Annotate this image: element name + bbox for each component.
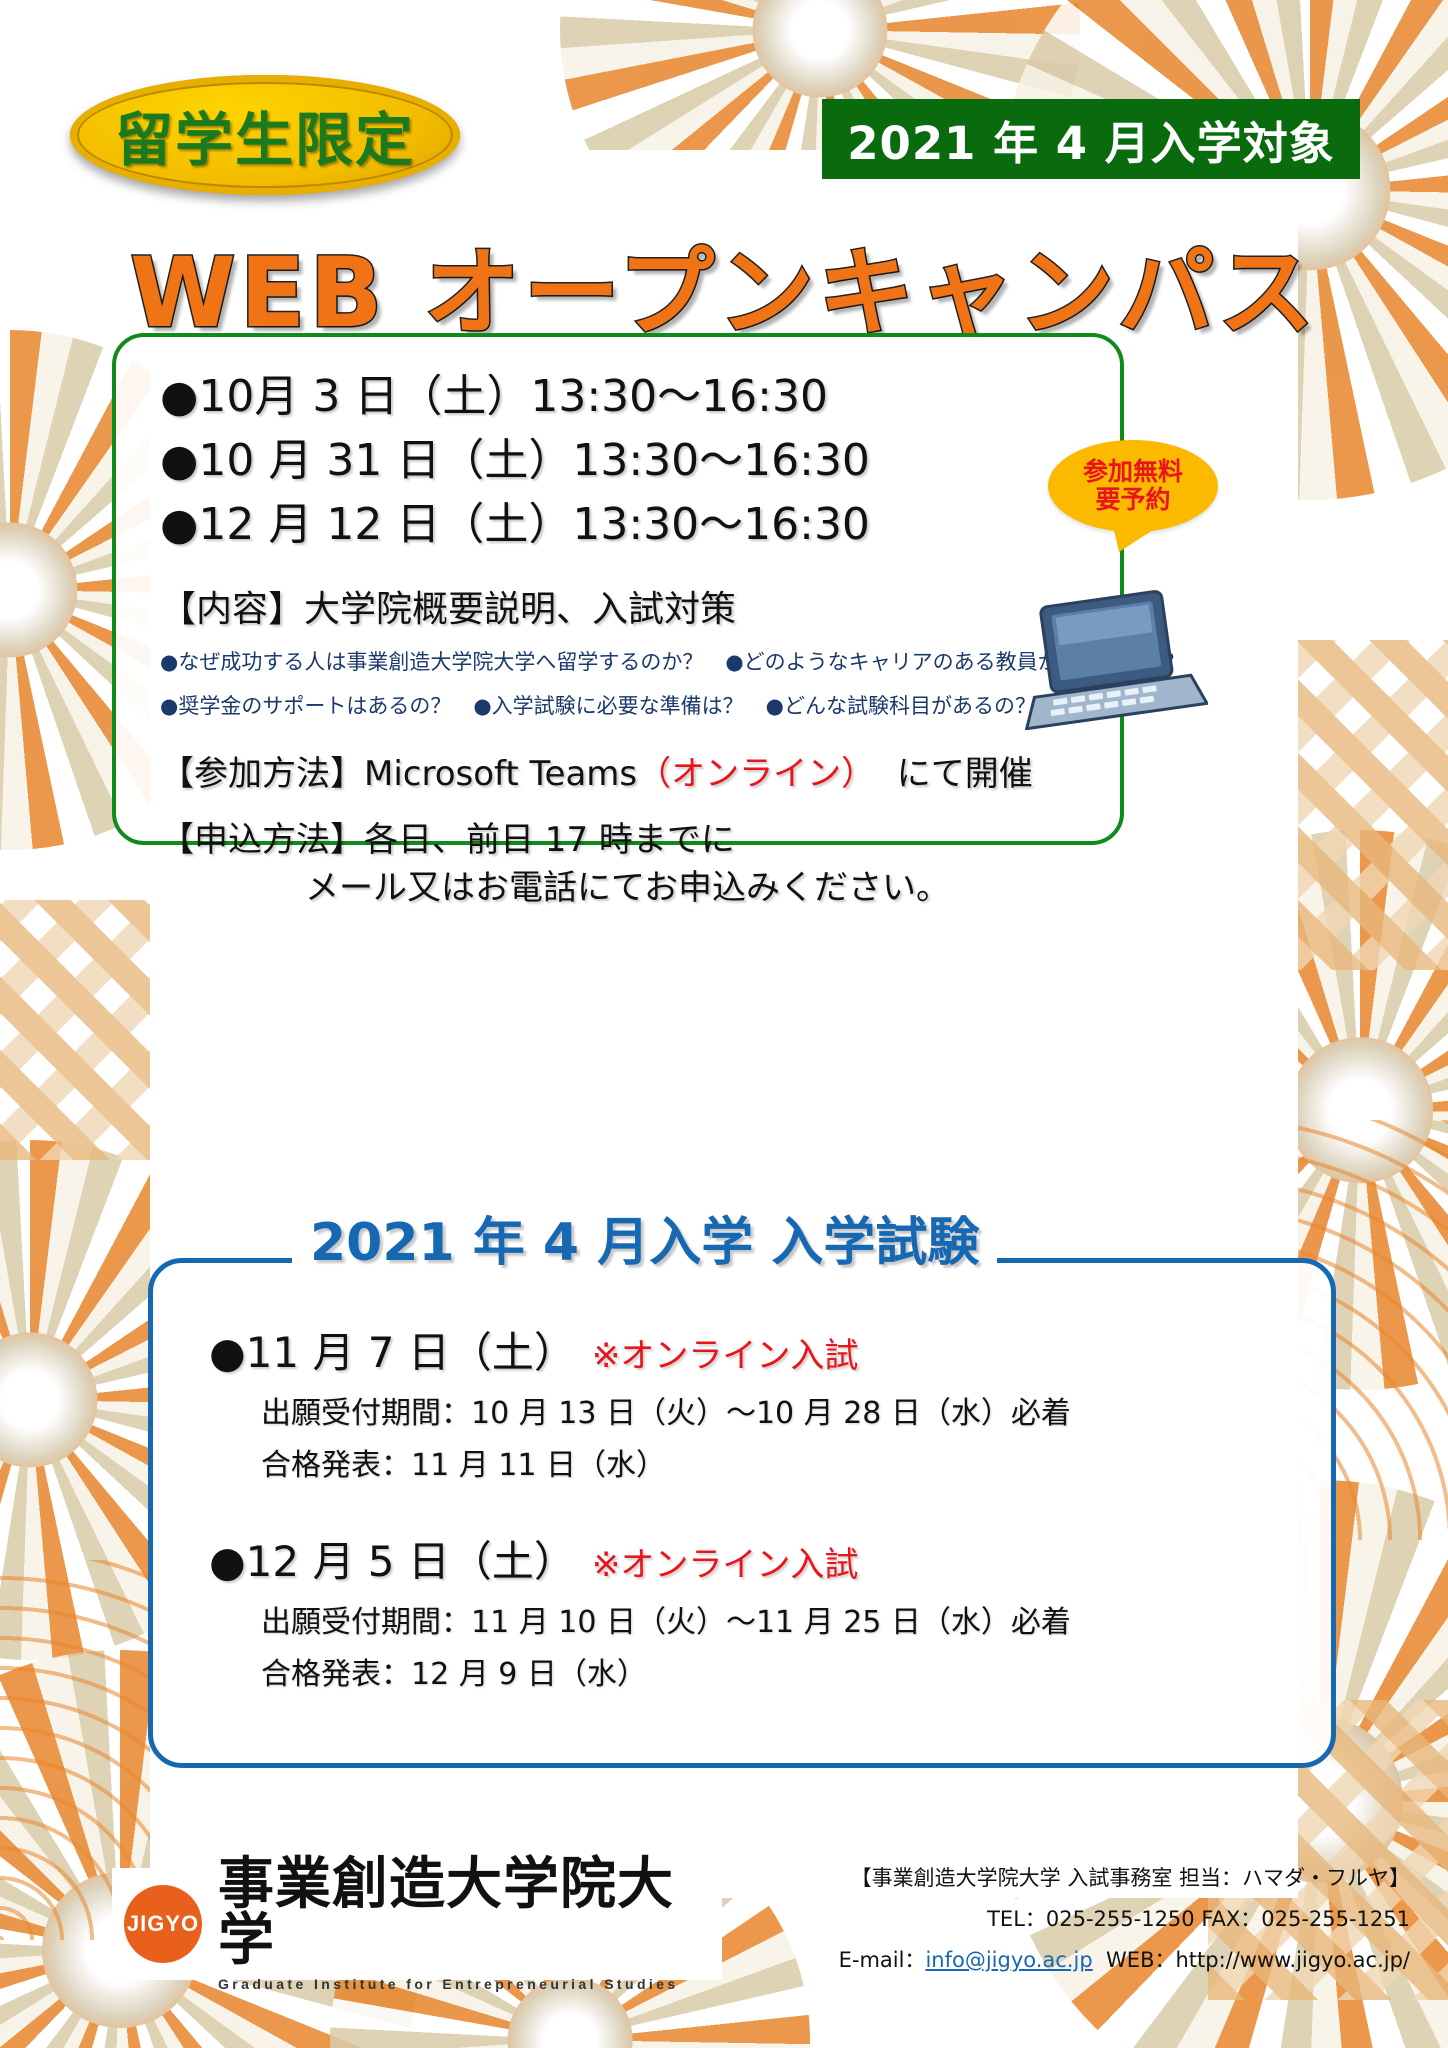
exam-1-date: ●11 月 7 日（土） — [209, 1328, 576, 1377]
badge-label: 留学生限定 — [115, 93, 415, 177]
exam-spacer — [209, 1484, 1331, 1528]
exam-1-result-announcement: 合格発表：11 月 11 日（水） — [261, 1440, 1331, 1484]
free-admission-line2: 要予約 — [1095, 486, 1170, 514]
university-name-jp: 事業創造大学院大学 — [218, 1857, 722, 1969]
event-date-3: ●12 月 12 日（土）13:30〜16:30 — [160, 493, 1120, 557]
exam-2-application-period: 出願受付期間：11 月 10 日（火）〜11 月 25 日（水）必着 — [261, 1597, 1331, 1641]
laptop-icon — [1018, 590, 1208, 730]
exam-2-result-announcement: 合格発表：12 月 9 日（水） — [261, 1649, 1331, 1693]
admission-target-banner: 2021 年 4 月入学対象 — [822, 99, 1360, 179]
university-name-en: Graduate Institute for Entrepreneurial S… — [218, 1976, 722, 1992]
contact-web: WEB：http://www.jigyo.ac.jp/ — [1106, 1948, 1410, 1972]
question-2c: ●どんな試験科目があるの？ — [766, 694, 1036, 718]
question-row-1: ●なぜ成功する人は事業創造大学院大学へ留学するのか？●どのようなキャリアのある教… — [160, 646, 1120, 676]
contact-email-link[interactable]: info@jigyo.ac.jp — [925, 1948, 1092, 1972]
apply-method-block: 【申込方法】各日、前日 17 時までに メール又はお電話にてお申込みください。 — [160, 817, 1120, 912]
exam-2-date: ●12 月 5 日（土） — [209, 1537, 576, 1586]
contact-block: 【事業創造大学院大学 入試事務室 担当：ハマダ・フルヤ】 TEL：025-255… — [839, 1862, 1410, 1974]
contents-label: 【内容】大学院概要説明、入試対策 — [160, 580, 1120, 632]
jigyo-seal-icon: JIGYO — [124, 1885, 202, 1963]
free-admission-line1: 参加無料 — [1083, 458, 1183, 486]
free-admission-bubble: 参加無料 要予約 — [1048, 440, 1218, 532]
exam-1-date-row: ●11 月 7 日（土）※オンライン入試 — [209, 1319, 1331, 1380]
apply-method-line2: メール又はお電話にてお申込みください。 — [160, 865, 950, 913]
exam-2-date-row: ●12 月 5 日（土）※オンライン入試 — [209, 1528, 1331, 1589]
event-info-box: ●10月 3 日（土）13:30〜16:30 ●10 月 31 日（土）13:3… — [112, 333, 1124, 845]
question-2b: ●入学試験に必要な準備は？ — [473, 694, 743, 718]
contact-office: 【事業創造大学院大学 入試事務室 担当：ハマダ・フルヤ】 — [839, 1862, 1410, 1892]
contact-email-row: E-mail：info@jigyo.ac.jp WEB：http://www.j… — [839, 1944, 1410, 1974]
university-logo: JIGYO 事業創造大学院大学 Graduate Institute for E… — [112, 1868, 722, 1980]
exam-section-title: 2021 年 4 月入学 入学試験 — [292, 1200, 997, 1275]
question-1a: ●なぜ成功する人は事業創造大学院大学へ留学するのか？ — [160, 650, 703, 674]
contact-tel: TEL：025-255-1250 FAX：025-255-1251 — [839, 1903, 1410, 1933]
join-method-tail: にて開催 — [897, 754, 1033, 794]
join-method-online: （オンライン） — [637, 754, 875, 794]
exam-info-box: ●11 月 7 日（土）※オンライン入試 出願受付期間：10 月 13 日（火）… — [148, 1258, 1336, 1768]
apply-method-line1: 【申込方法】各日、前日 17 時までに — [160, 817, 1120, 865]
exam-2-online-note: ※オンライン入試 — [592, 1545, 859, 1585]
join-method-label: 【参加方法】Microsoft Teams — [160, 754, 637, 794]
exam-1-application-period: 出願受付期間：10 月 13 日（火）〜10 月 28 日（水）必着 — [261, 1388, 1331, 1432]
exam-1-online-note: ※オンライン入試 — [592, 1336, 859, 1376]
join-method-line: 【参加方法】Microsoft Teams（オンライン） にて開催 — [160, 746, 1120, 795]
admission-target-label: 2021 年 4 月入学対象 — [847, 107, 1335, 172]
event-date-1: ●10月 3 日（土）13:30〜16:30 — [160, 365, 1120, 429]
question-row-2: ●奨学金のサポートはあるの？●入学試験に必要な準備は？●どんな試験科目があるの？ — [160, 690, 1120, 720]
question-2a: ●奨学金のサポートはあるの？ — [160, 694, 451, 718]
event-date-2: ●10 月 31 日（土）13:30〜16:30 — [160, 429, 1120, 493]
diamond-pattern — [0, 900, 150, 1160]
international-student-badge: 留学生限定 — [70, 75, 460, 195]
contact-email-label: E-mail： — [839, 1948, 926, 1972]
